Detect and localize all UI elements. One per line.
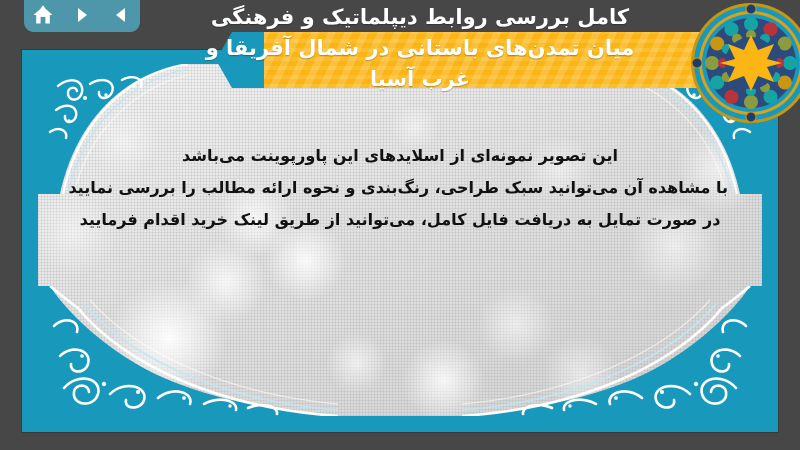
home-button[interactable] [30, 3, 56, 27]
triangle-left-icon [111, 5, 131, 25]
slide-body-text: این تصویر نمونه‌ای از اسلایدهای این پاور… [72, 140, 728, 236]
navigation-bar [24, 0, 140, 32]
home-icon [32, 5, 54, 25]
body-line-3: در صورت تمایل به دریافت فایل کامل، می‌تو… [72, 204, 728, 236]
body-line-1: این تصویر نمونه‌ای از اسلایدهای این پاور… [72, 140, 728, 172]
title-banner [0, 32, 800, 88]
title-line-1: کامل بررسی روابط دیپلماتیک و فرهنگی [120, 2, 720, 33]
forward-button[interactable] [69, 3, 95, 27]
triangle-right-icon [72, 5, 92, 25]
body-line-2: با مشاهده آن می‌توانید سبک طراحی، رنگ‌بن… [72, 172, 728, 204]
corner-flourish-icon-bottom-right [462, 286, 762, 416]
banner-pennant-tip-icon [216, 32, 264, 88]
presentation-viewer: کامل بررسی روابط دیپلماتیک و فرهنگی میان… [0, 0, 800, 450]
slide-content-area: این تصویر نمونه‌ای از اسلایدهای این پاور… [38, 64, 762, 416]
corner-flourish-icon-bottom-left [38, 286, 338, 416]
back-button[interactable] [108, 3, 134, 27]
persian-medallion-icon [690, 2, 800, 124]
slide-frame: این تصویر نمونه‌ای از اسلایدهای این پاور… [22, 50, 778, 432]
